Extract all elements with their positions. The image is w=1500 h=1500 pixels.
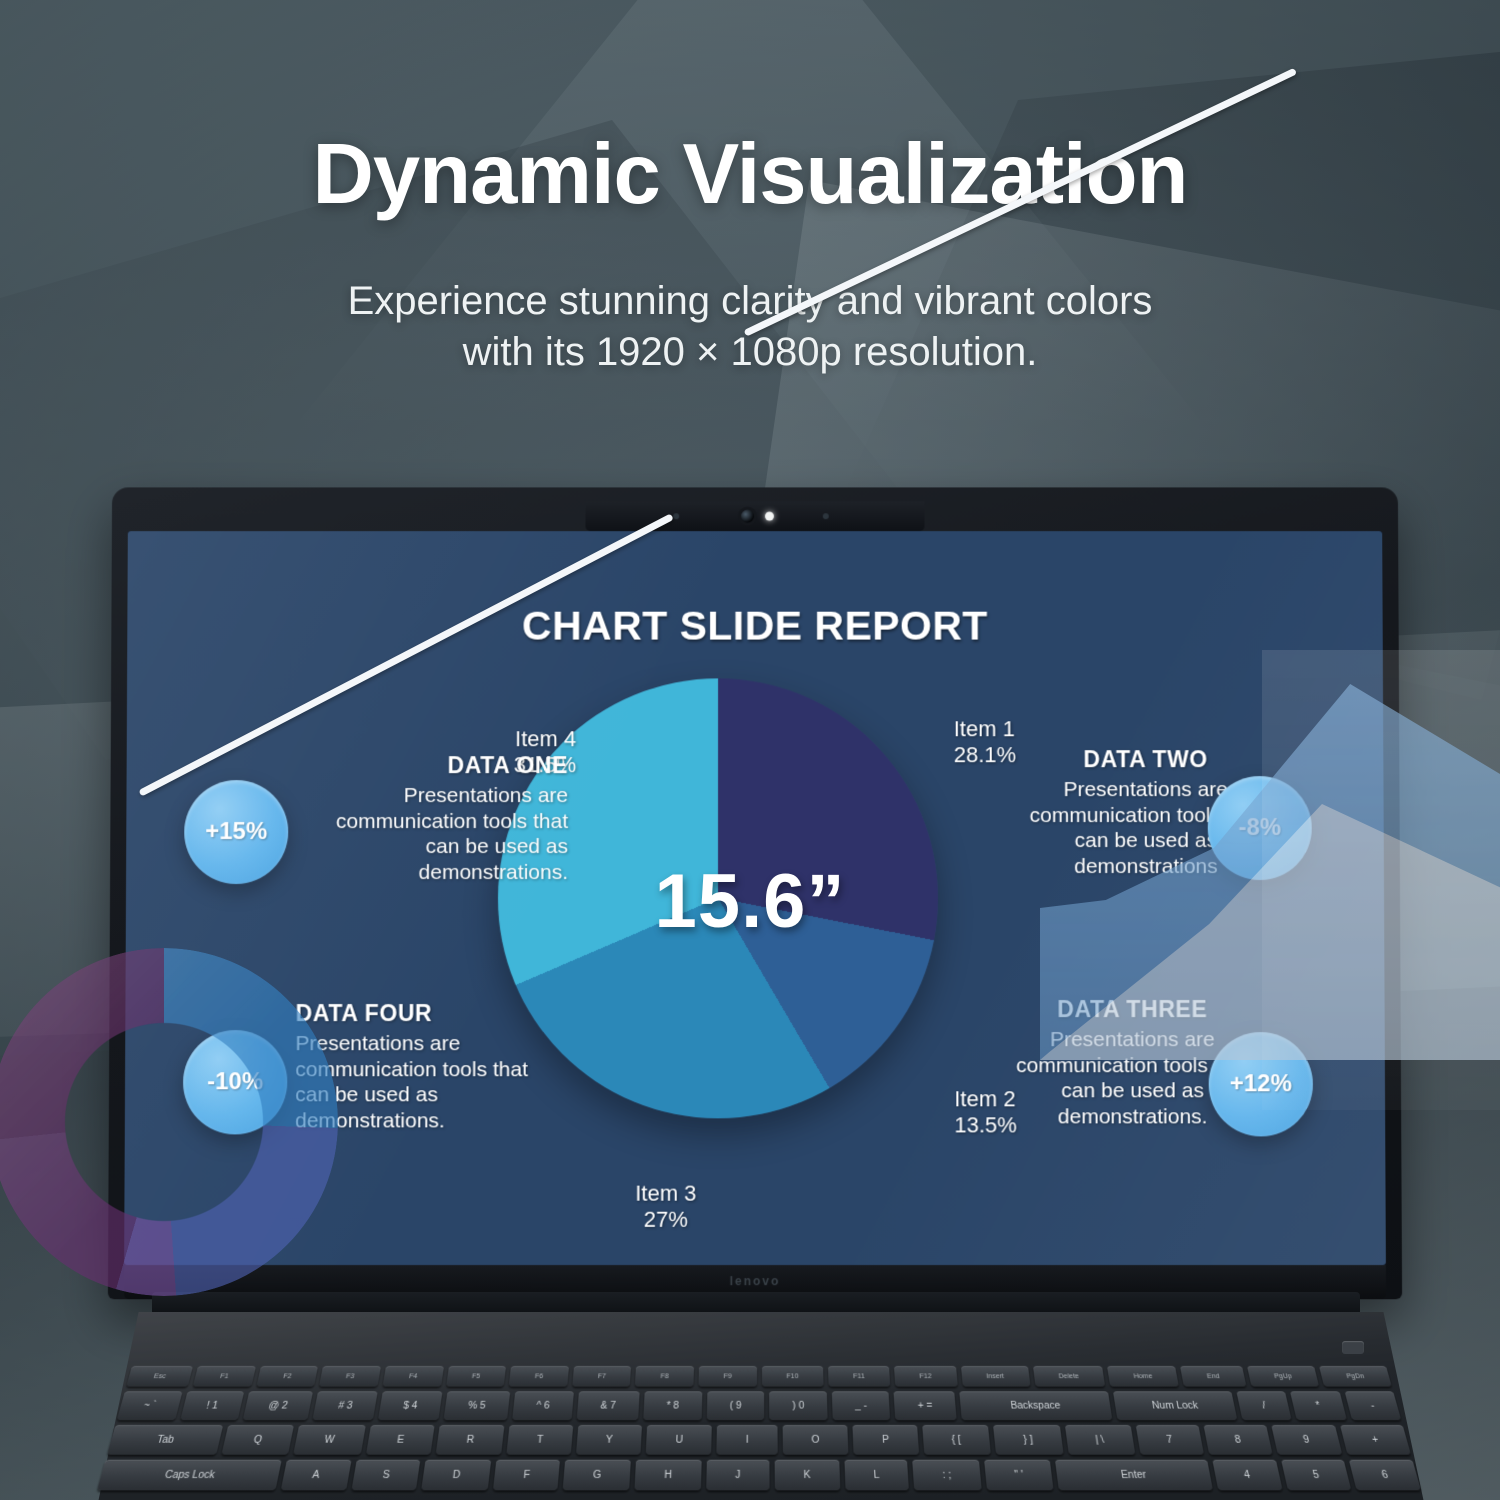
key-8[interactable]: * 8 [643, 1391, 702, 1420]
key-f10[interactable]: F10 [762, 1366, 824, 1387]
keyboard-row: EscF1F2F3F4F5F6F7F8F9F10F11F12InsertDele… [122, 1366, 1396, 1387]
info-block-data-two-title: DATA TWO [1016, 746, 1276, 773]
key-i[interactable]: I [717, 1425, 778, 1455]
sensor-dot-right-icon [823, 513, 829, 519]
key-f6[interactable]: F6 [509, 1366, 569, 1387]
key-t[interactable]: T [507, 1425, 574, 1455]
power-button-icon[interactable] [1342, 1341, 1364, 1354]
key-e[interactable]: E [366, 1425, 435, 1455]
key-f5[interactable]: F5 [446, 1366, 506, 1387]
key-f2[interactable]: F2 [256, 1366, 318, 1387]
pie-label-item-3-value: 27% [591, 1207, 741, 1233]
key-g[interactable]: G [563, 1460, 631, 1491]
key-q[interactable]: Q [222, 1425, 294, 1455]
pie-label-item-4-name: Item 4 [456, 726, 576, 752]
key-4[interactable]: 4 [1212, 1460, 1282, 1491]
key-[interactable]: { [ [922, 1425, 991, 1455]
laptop-top-bezel [128, 493, 1382, 531]
pie-label-item-1-name: Item 1 [954, 716, 1094, 742]
key-num-lock[interactable]: Num Lock [1113, 1391, 1237, 1420]
keyboard-row: TabQWERTYUIOP{ [} ]| \789+ [103, 1425, 1415, 1455]
key-7[interactable]: 7 [1135, 1425, 1204, 1455]
status-badge-data-three: +12% [1209, 1032, 1314, 1136]
key-f11[interactable]: F11 [828, 1366, 890, 1387]
key-f7[interactable]: F7 [572, 1366, 631, 1387]
key-w[interactable]: W [293, 1425, 366, 1455]
key-5[interactable]: 5 [1281, 1460, 1352, 1491]
key-f[interactable]: F [493, 1460, 560, 1491]
status-badge-data-four: -10% [183, 1030, 288, 1134]
key-end[interactable]: End [1180, 1366, 1246, 1387]
key-h[interactable]: H [635, 1460, 702, 1491]
key-[interactable]: ~ ` [117, 1391, 183, 1420]
key-9[interactable]: ( 9 [707, 1391, 765, 1420]
key-pgdn[interactable]: PgDn [1319, 1366, 1392, 1387]
key-[interactable]: | \ [1065, 1425, 1135, 1455]
key-s[interactable]: S [351, 1460, 421, 1491]
info-block-data-four-title: DATA FOUR [296, 1000, 556, 1027]
key-f8[interactable]: F8 [635, 1366, 694, 1387]
key-[interactable]: } ] [993, 1425, 1063, 1455]
key-f9[interactable]: F9 [698, 1366, 756, 1387]
key-6[interactable]: ^ 6 [512, 1391, 574, 1420]
key-r[interactable]: R [436, 1425, 505, 1455]
info-block-data-three-title: DATA THREE [1002, 996, 1262, 1023]
key-6[interactable]: 6 [1349, 1460, 1421, 1491]
key-[interactable]: " ' [984, 1460, 1054, 1491]
key-k[interactable]: K [774, 1460, 840, 1491]
key-[interactable]: _ - [832, 1391, 891, 1420]
brand-logo: lenovo [730, 1274, 781, 1288]
key-[interactable]: * [1290, 1391, 1347, 1420]
key-pgup[interactable]: PgUp [1247, 1366, 1319, 1387]
keyboard[interactable]: EscF1F2F3F4F5F6F7F8F9F10F11F12InsertDele… [87, 1366, 1431, 1500]
key-u[interactable]: U [646, 1425, 712, 1455]
key-[interactable]: / [1237, 1391, 1292, 1420]
poster-canvas: Dynamic Visualization Experience stunnin… [0, 0, 1500, 1500]
key-j[interactable]: J [706, 1460, 770, 1491]
key-f3[interactable]: F3 [319, 1366, 381, 1387]
key-3[interactable]: # 3 [313, 1391, 378, 1420]
key-[interactable]: + = [894, 1391, 957, 1420]
key-o[interactable]: O [782, 1425, 848, 1455]
info-block-data-four-body: Presentations are communication tools th… [295, 1031, 556, 1134]
camera-icon [741, 510, 754, 523]
key-l[interactable]: L [844, 1460, 909, 1491]
key-backspace[interactable]: Backspace [959, 1391, 1113, 1420]
pie-label-item-3-name: Item 3 [591, 1181, 741, 1207]
key-f1[interactable]: F1 [193, 1366, 256, 1387]
led-indicator-icon [765, 512, 774, 521]
key-home[interactable]: Home [1107, 1366, 1179, 1387]
key-4[interactable]: $ 4 [378, 1391, 442, 1420]
key-1[interactable]: ! 1 [180, 1391, 244, 1420]
key-5[interactable]: % 5 [443, 1391, 510, 1420]
key-a[interactable]: A [280, 1460, 351, 1491]
key-esc[interactable]: Esc [126, 1366, 193, 1387]
key-d[interactable]: D [422, 1460, 491, 1491]
key-tab[interactable]: Tab [107, 1425, 223, 1455]
key-[interactable]: : ; [913, 1460, 982, 1491]
key-8[interactable]: 8 [1203, 1425, 1272, 1455]
key-[interactable]: - [1344, 1391, 1401, 1420]
key-enter[interactable]: Enter [1055, 1460, 1212, 1491]
key-y[interactable]: Y [576, 1425, 642, 1455]
key-p[interactable]: P [853, 1425, 919, 1455]
key-insert[interactable]: Insert [961, 1366, 1030, 1387]
keyboard-row: Caps LockASDFGHJKL: ;" 'Enter456 [93, 1460, 1425, 1491]
key-f4[interactable]: F4 [382, 1366, 443, 1387]
key-f12[interactable]: F12 [894, 1366, 957, 1387]
key-delete[interactable]: Delete [1033, 1366, 1106, 1387]
webcam-notch [585, 501, 924, 531]
info-block-data-one-title: DATA ONE [308, 752, 568, 779]
key-2[interactable]: @ 2 [243, 1391, 314, 1420]
pie-label-item-3: Item 3 27% [591, 1181, 741, 1233]
screen-size-callout: 15.6” [0, 858, 1500, 945]
keyboard-row: ~ `! 1@ 2# 3$ 4% 5^ 6& 7* 8( 9) 0_ -+ =B… [113, 1391, 1406, 1420]
sensor-dot-left-icon [674, 513, 680, 519]
key-caps-lock[interactable]: Caps Lock [97, 1460, 281, 1491]
info-block-data-four: DATA FOUR Presentations are communicatio… [295, 1000, 556, 1134]
key-0[interactable]: ) 0 [769, 1391, 827, 1420]
slide-title: CHART SLIDE REPORT [127, 603, 1383, 650]
key-[interactable]: + [1340, 1425, 1412, 1455]
key-9[interactable]: 9 [1271, 1425, 1341, 1455]
key-7[interactable]: & 7 [576, 1391, 639, 1420]
